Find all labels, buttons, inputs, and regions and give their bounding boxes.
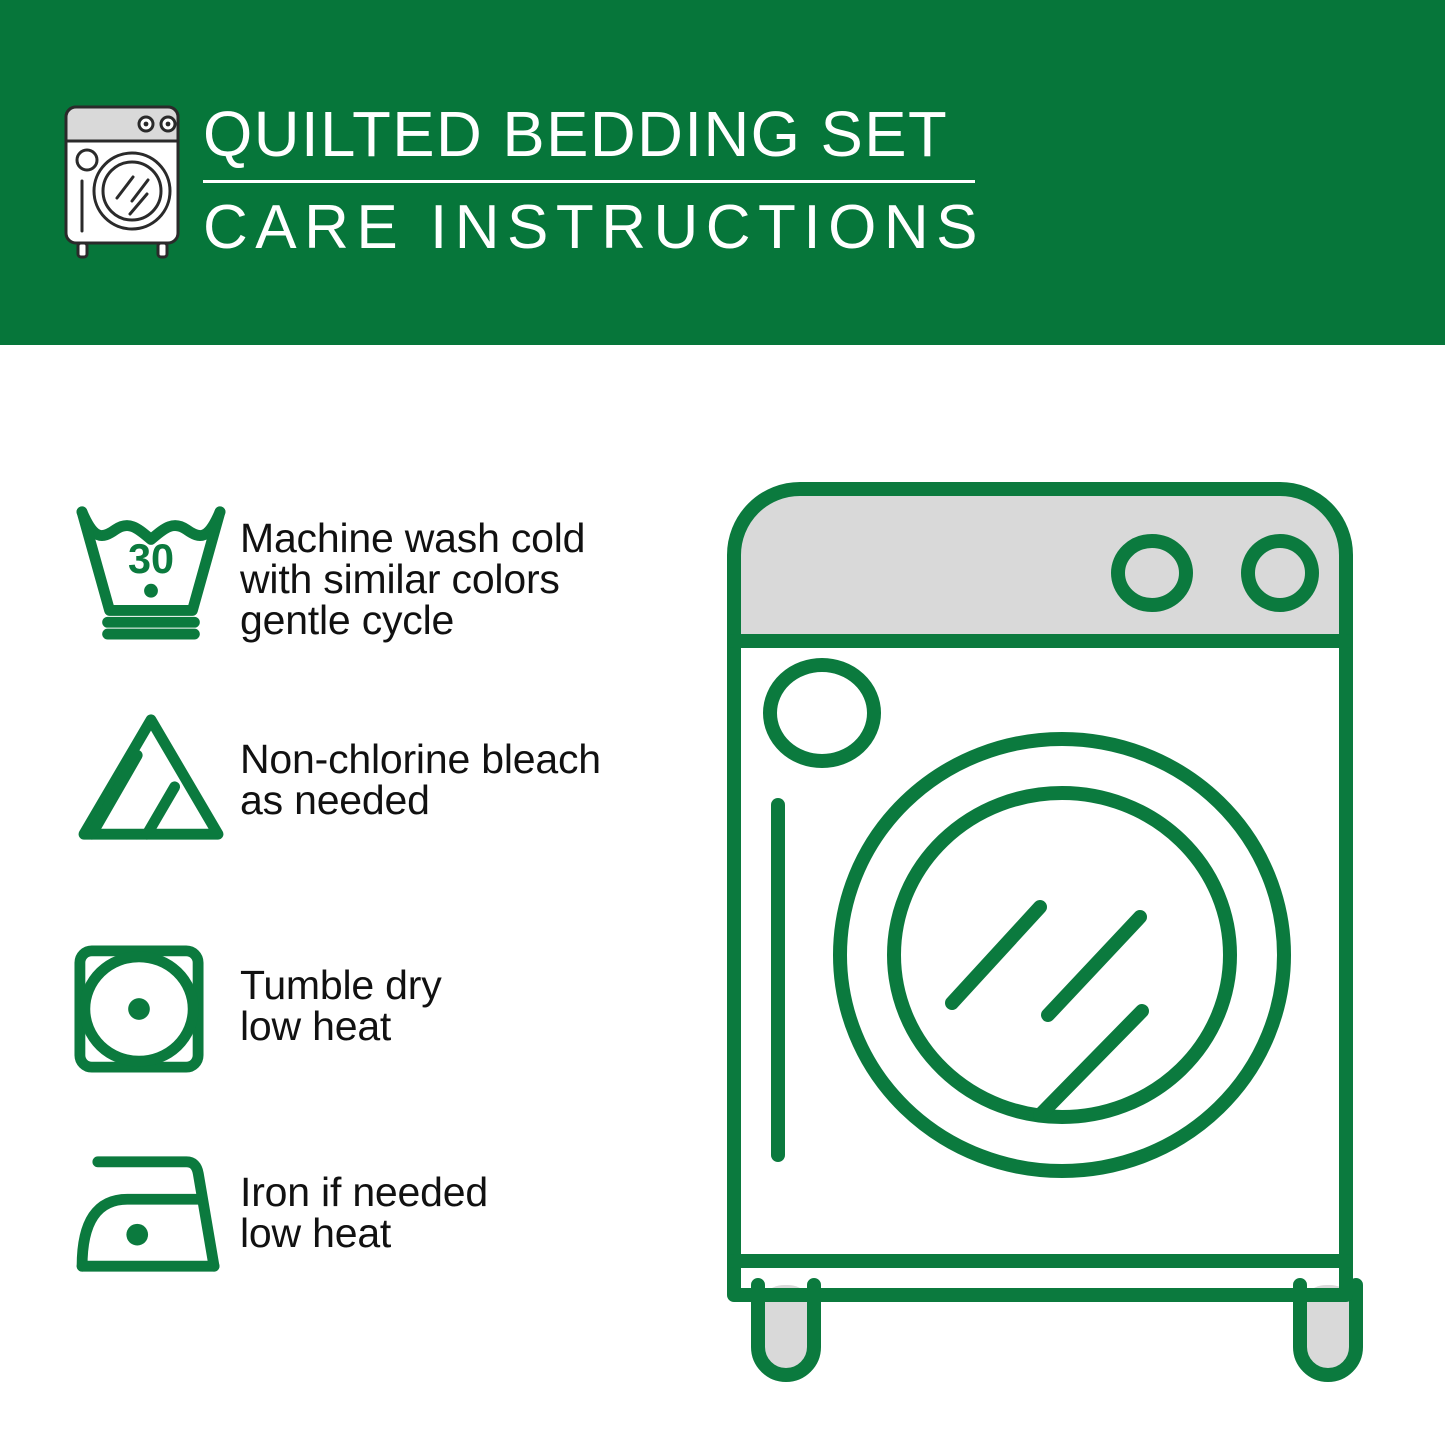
door-highlight-1 xyxy=(952,907,1040,1003)
tumble-dry-low-heat-icon xyxy=(0,943,240,1075)
non-chlorine-bleach-triangle-icon xyxy=(0,710,240,846)
washing-machine-icon xyxy=(60,103,192,261)
page-title: QUILTED BEDDING SET xyxy=(203,96,985,172)
door-outer-ring xyxy=(840,739,1284,1171)
care-instructions-list: 30 Machine wash cold with similar colors… xyxy=(0,345,700,1445)
wash-temperature-label: 30 xyxy=(128,536,174,582)
header-divider xyxy=(203,180,975,183)
wash-tub-30-gentle-icon: 30 xyxy=(0,500,240,640)
care-row-machine-wash: 30 Machine wash cold with similar colors… xyxy=(0,500,700,641)
page-subtitle: CARE INSTRUCTIONS xyxy=(203,193,993,263)
care-instruction-text: Machine wash cold with similar colors ge… xyxy=(240,500,585,641)
header-band: QUILTED BEDDING SET CARE INSTRUCTIONS xyxy=(0,0,1445,345)
care-instruction-text: Tumble dry low heat xyxy=(240,943,442,1047)
care-instruction-text: Iron if needed low heat xyxy=(240,1150,488,1254)
care-row-iron: Iron if needed low heat xyxy=(0,1150,700,1278)
header-text-block: QUILTED BEDDING SET CARE INSTRUCTIONS xyxy=(203,96,993,263)
care-row-tumble-dry: Tumble dry low heat xyxy=(0,943,700,1075)
door-highlight-2 xyxy=(1048,917,1140,1015)
care-instruction-text: Non-chlorine bleach as needed xyxy=(240,710,601,821)
front-load-washing-machine-illustration xyxy=(700,455,1420,1385)
iron-low-heat-icon xyxy=(0,1150,240,1278)
care-row-bleach: Non-chlorine bleach as needed xyxy=(0,710,700,846)
door-inner-ring xyxy=(894,793,1230,1117)
detergent-dispenser xyxy=(770,665,874,761)
